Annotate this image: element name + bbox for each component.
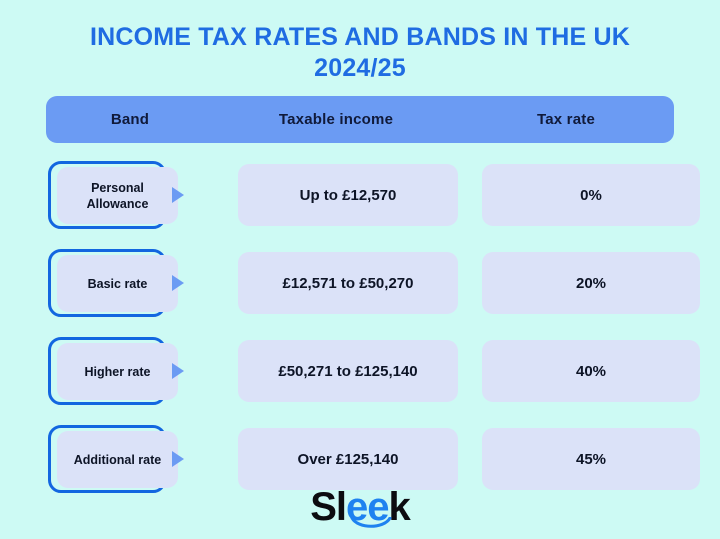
taxable-income-value: £12,571 to £50,270 [283, 275, 414, 292]
tax-rate-value: 45% [576, 451, 606, 468]
taxable-income-cell: Up to £12,570 [238, 164, 458, 226]
arrow-right-icon [172, 449, 185, 469]
table-row: Basic rate £12,571 to £50,270 20% [46, 247, 674, 319]
tax-rate-cell: 20% [482, 252, 700, 314]
sleek-logo: Sleek [0, 487, 720, 527]
tax-rate-value: 20% [576, 275, 606, 292]
column-header-tax-rate: Tax rate [458, 111, 674, 128]
page-title: Income tax rates and bands in the UK 202… [0, 0, 720, 84]
tax-rate-cell: 45% [482, 428, 700, 490]
band-chip-fill: Basic rate [57, 255, 178, 312]
band-chip: Basic rate [46, 247, 214, 319]
table-row: Higher rate £50,271 to £125,140 40% [46, 335, 674, 407]
arrow-right-icon [172, 361, 185, 381]
tax-rate-cell: 40% [482, 340, 700, 402]
taxable-income-cell: Over £125,140 [238, 428, 458, 490]
band-chip-fill: Higher rate [57, 343, 178, 400]
taxable-income-cell: £50,271 to £125,140 [238, 340, 458, 402]
tax-rates-table: Band Taxable income Tax rate Personal Al… [46, 96, 674, 495]
column-header-taxable-income: Taxable income [214, 111, 458, 128]
logo-wordmark: Sleek [310, 487, 410, 527]
taxable-income-cell: £12,571 to £50,270 [238, 252, 458, 314]
table-row: Personal Allowance Up to £12,570 0% [46, 159, 674, 231]
arrow-right-icon [172, 273, 185, 293]
taxable-income-value: £50,271 to £125,140 [278, 363, 417, 380]
tax-rate-value: 0% [580, 187, 602, 204]
band-label: Basic rate [88, 276, 148, 292]
band-chip-fill: Additional rate [57, 431, 178, 488]
band-chip: Additional rate [46, 423, 214, 495]
band-chip-fill: Personal Allowance [57, 167, 178, 224]
band-label: Personal Allowance [63, 180, 172, 212]
page-title-line-2: 2024/25 [0, 53, 720, 84]
smile-icon [350, 517, 392, 530]
tax-rate-value: 40% [576, 363, 606, 380]
page-title-line-1: Income tax rates and bands in the UK [0, 22, 720, 53]
arrow-right-icon [172, 185, 185, 205]
column-header-band: Band [46, 111, 214, 128]
band-label: Higher rate [85, 364, 151, 380]
tax-rate-cell: 0% [482, 164, 700, 226]
band-chip: Personal Allowance [46, 159, 214, 231]
band-chip: Higher rate [46, 335, 214, 407]
band-label: Additional rate [74, 452, 162, 468]
taxable-income-value: Up to £12,570 [300, 187, 397, 204]
taxable-income-value: Over £125,140 [298, 451, 399, 468]
table-header-row: Band Taxable income Tax rate [46, 96, 674, 143]
logo-part-sl: Sl [310, 485, 346, 529]
